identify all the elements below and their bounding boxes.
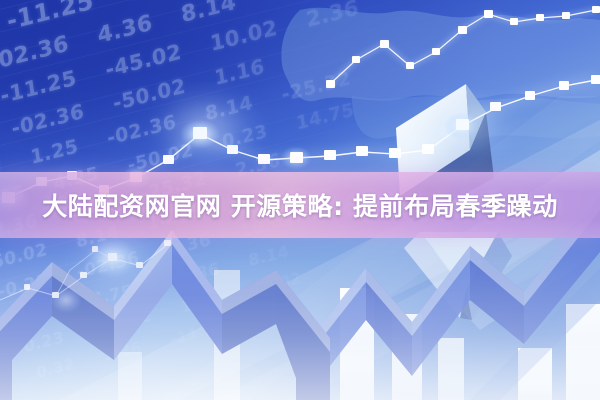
page-title: 大陆配资网官网 开源策略: 提前布局春季躁动 bbox=[42, 187, 558, 223]
title-band: 大陆配资网官网 开源策略: 提前布局春季躁动 bbox=[0, 172, 600, 238]
banner-image: -25.32-02.3621.05-50.02-11.2545.028.14-0… bbox=[0, 0, 600, 400]
